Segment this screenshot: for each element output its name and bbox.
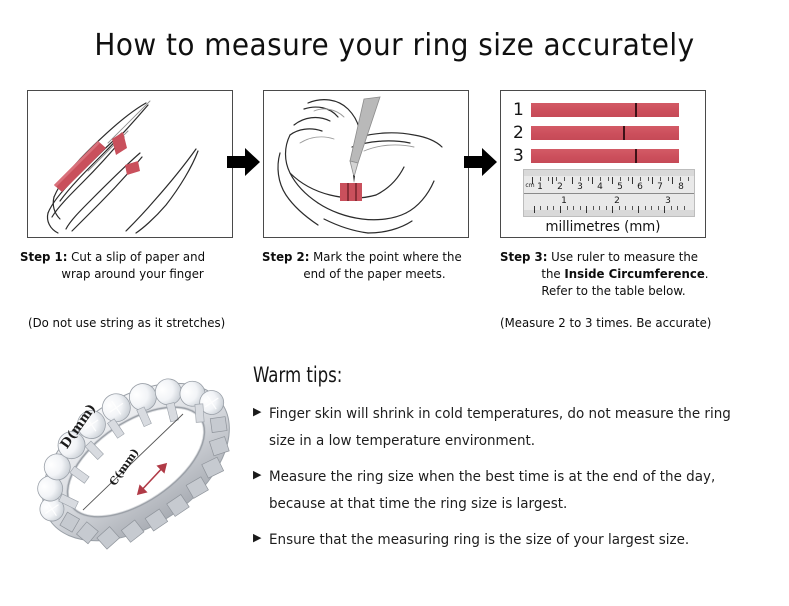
tip-text: Finger skin will shrink in cold temperat… [269,401,738,455]
ruler-cm-number: 8 [678,182,684,192]
ruler-cm-number: 6 [637,182,643,192]
paper-slip-wrapped [340,183,362,201]
step-3-line2-suffix: . [705,266,709,281]
ruler-cm-number: 1 [537,182,543,192]
step-2-caption: Step 2: Mark the point where the end of … [262,248,488,282]
strip-number: 1 [513,102,531,119]
ruler-midline [524,193,694,194]
tip-item: ▶ Measure the ring size when the best ti… [253,464,773,518]
step-3-illustration-panel: 1 2 3 [500,90,706,238]
tip-item: ▶ Finger skin will shrink in cold temper… [253,401,773,455]
step-3-caption: Step 3: Use ruler to measure the the Ins… [500,248,744,299]
arrow-step2-to-step3 [464,146,498,178]
step-1-line2: wrap around your finger [20,265,246,282]
warm-tips-title: Warm tips: [253,363,711,387]
step-3-line2-prefix: the [541,266,564,281]
strip-mark [623,126,625,140]
step-1-caption: Step 1: Cut a slip of paper and wrap aro… [20,248,246,282]
pen [350,97,380,183]
strip-mark [635,149,637,163]
ruler-cm-number: 5 [617,182,623,192]
step-3-emphasis: Inside Circumference [564,266,704,281]
arrow-step1-to-step2 [227,146,261,178]
page-title: How to measure your ring size accurately [28,28,762,63]
hands-marking-drawing [264,91,468,237]
tip-text: Measure the ring size when the best time… [269,464,738,518]
eternity-ring-photo [20,352,252,572]
steps-row: 1 2 3 [27,90,710,238]
step-3-label: Step 3: [500,249,547,264]
ruler-band-top [524,170,694,176]
strip-bar [531,103,679,117]
ruler-inch-number: 1 [561,196,567,206]
ruler-inch-number: 3 [665,196,671,206]
strip-number: 3 [513,148,531,165]
step-1-line1: Cut a slip of paper and [71,249,205,264]
paper-slip-wrapped [112,132,140,175]
step-2-illustration-panel [263,90,469,238]
step-1-label: Step 1: [20,249,67,264]
step-2-label: Step 2: [262,249,309,264]
ruler-cm-number: 2 [557,182,563,192]
ruler-unit-label: millimetres (mm) [506,219,700,235]
hand-paper-drawing [28,91,232,237]
ruler-cm-ticks [524,177,694,184]
ruler-cm-number: 3 [577,182,583,192]
step-3-note: (Measure 2 to 3 times. Be accurate) [500,315,711,330]
strip-number: 2 [513,125,531,142]
step-captions: Step 1: Cut a slip of paper and wrap aro… [0,248,789,338]
triangle-bullet-icon: ▶ [253,464,269,480]
ruler-inch-ticks [524,206,694,213]
step-1-illustration-panel [27,90,233,238]
strip-row: 1 [513,100,695,120]
ring-illustration [20,352,252,572]
ruler-cm-number: 7 [657,182,663,192]
strip-bar [531,149,679,163]
tip-text: Ensure that the measuring ring is the si… [269,527,738,554]
tip-item: ▶ Ensure that the measuring ring is the … [253,527,773,554]
step-3-line3: Refer to the table below. [500,282,744,299]
triangle-bullet-icon: ▶ [253,527,269,543]
warm-tips-section: Warm tips: ▶ Finger skin will shrink in … [253,363,773,563]
strip-bar [531,126,679,140]
ruler-cm-number: 4 [597,182,603,192]
ruler-cm-unit: cm [525,182,534,189]
step-3-line2: the Inside Circumference. [500,265,744,282]
ruler-inch-number: 2 [614,196,620,206]
strip-row: 3 [513,146,695,166]
strip-mark [635,103,637,117]
strip-row: 2 [513,123,695,143]
triangle-bullet-icon: ▶ [253,401,269,417]
measured-strips: 1 2 3 [513,100,695,169]
step-3-line1: Use ruler to measure the [551,249,698,264]
step-2-line2: end of the paper meets. [262,265,488,282]
step-1-note: (Do not use string as it stretches) [28,315,225,330]
step-2-line1: Mark the point where the [313,249,462,264]
ruler-graphic: cm 1 2 3 4 5 6 7 8 1 2 3 [523,169,695,217]
